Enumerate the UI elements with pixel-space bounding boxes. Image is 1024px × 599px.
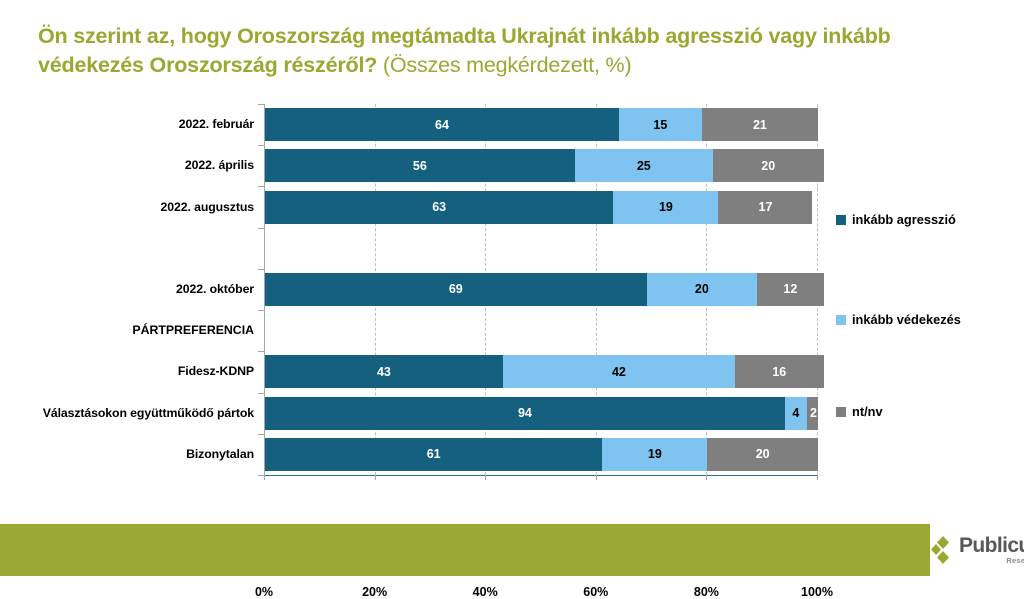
- bar-value-label: 17: [759, 200, 773, 214]
- logo-subtitle: Research: [959, 557, 1024, 565]
- legend-item[interactable]: nt/nv: [836, 404, 883, 419]
- logo-name: Publicus: [959, 535, 1024, 556]
- stacked-bar: 434216: [265, 355, 818, 388]
- stacked-bar: 611920: [265, 438, 818, 471]
- bar-value-label: 69: [449, 282, 463, 296]
- publicus-logo: Publicus Research: [930, 524, 1024, 576]
- bar-value-label: 61: [427, 447, 441, 461]
- bar-segment: 12: [757, 273, 823, 306]
- category-label: 2022. augusztus: [0, 200, 254, 214]
- x-tick-label: 0%: [234, 585, 294, 599]
- x-tick-label: 60%: [566, 585, 626, 599]
- bar-segment: 64: [265, 108, 619, 141]
- bar-segment: 19: [602, 438, 707, 471]
- legend-swatch: [836, 407, 846, 417]
- stacked-bar: 562520: [265, 149, 818, 182]
- bar-value-label: 63: [432, 200, 446, 214]
- legend-item[interactable]: inkább védekezés: [836, 312, 961, 327]
- x-tick-0: [264, 475, 265, 480]
- category-label: PÁRTPREFERENCIA: [0, 323, 254, 337]
- bar-value-label: 20: [756, 447, 770, 461]
- bar-value-label: 43: [377, 365, 391, 379]
- stacked-bar: 631917: [265, 191, 818, 224]
- legend-swatch: [836, 215, 846, 225]
- bar-value-label: 2: [810, 406, 817, 420]
- bar-segment: 42: [503, 355, 735, 388]
- x-tick-label: 100%: [787, 585, 847, 599]
- x-tick-label: 80%: [676, 585, 736, 599]
- footer-band: [0, 524, 936, 576]
- category-label: Választásokon együttműködő pártok: [0, 406, 254, 420]
- x-tick-40: [485, 475, 486, 480]
- bar-value-label: 56: [413, 159, 427, 173]
- bar-segment: 63: [265, 191, 613, 224]
- category-label: 2022. október: [0, 282, 254, 296]
- bar-value-label: 19: [648, 447, 662, 461]
- legend-swatch: [836, 315, 846, 325]
- category-label: 2022. február: [0, 117, 254, 131]
- x-tick-80: [706, 475, 707, 480]
- bar-segment: 43: [265, 355, 503, 388]
- bar-value-label: 20: [761, 159, 775, 173]
- category-label: Fidesz-KDNP: [0, 364, 254, 378]
- bar-value-label: 19: [659, 200, 673, 214]
- bar-segment: 61: [265, 438, 602, 471]
- bar-value-label: 64: [435, 118, 449, 132]
- value-axis-line: [264, 475, 818, 476]
- bar-value-label: 42: [612, 365, 626, 379]
- bar-segment: 69: [265, 273, 647, 306]
- stacked-bar: 9442: [265, 397, 818, 430]
- legend-label: inkább agresszió: [852, 212, 956, 227]
- bar-segment: 25: [575, 149, 713, 182]
- category-label: Bizonytalan: [0, 447, 254, 461]
- stacked-bar: 692012: [265, 273, 818, 306]
- bar-segment: 20: [647, 273, 758, 306]
- bar-value-label: 12: [783, 282, 797, 296]
- x-tick-label: 20%: [345, 585, 405, 599]
- diamond-logo-icon: [930, 535, 956, 565]
- bar-value-label: 15: [653, 118, 667, 132]
- bar-value-label: 94: [518, 406, 532, 420]
- legend-label: inkább védekezés: [852, 312, 961, 327]
- bar-segment: 15: [619, 108, 702, 141]
- bar-value-label: 21: [753, 118, 767, 132]
- chart-legend: inkább agresszióinkább védekezésnt/nv: [836, 104, 1024, 475]
- bar-segment: 56: [265, 149, 575, 182]
- bar-value-label: 16: [772, 365, 786, 379]
- bar-segment: 16: [735, 355, 823, 388]
- bar-segment: 17: [718, 191, 812, 224]
- bar-segment: 4: [785, 397, 807, 430]
- legend-label: nt/nv: [852, 404, 883, 419]
- x-tick-20: [375, 475, 376, 480]
- x-tick-label: 40%: [455, 585, 515, 599]
- stacked-bar: 641521: [265, 108, 818, 141]
- chart-title-sub: (Összes megkérdezett, %): [377, 53, 631, 77]
- bar-segment: 19: [613, 191, 718, 224]
- bar-segment: 21: [702, 108, 818, 141]
- bar-value-label: 25: [637, 159, 651, 173]
- bar-segment: 20: [707, 438, 818, 471]
- legend-item[interactable]: inkább agresszió: [836, 212, 956, 227]
- bar-segment: 94: [265, 397, 785, 430]
- chart-title: Ön szerint az, hogy Oroszország megtámad…: [38, 22, 978, 80]
- category-label: 2022. április: [0, 158, 254, 172]
- bar-segment: 20: [713, 149, 824, 182]
- logo-wordmark: Publicus Research: [959, 535, 1024, 565]
- x-tick-100: [817, 475, 818, 480]
- bar-value-label: 20: [695, 282, 709, 296]
- bar-segment: 2: [807, 397, 818, 430]
- bar-value-label: 4: [792, 406, 799, 420]
- x-tick-60: [596, 475, 597, 480]
